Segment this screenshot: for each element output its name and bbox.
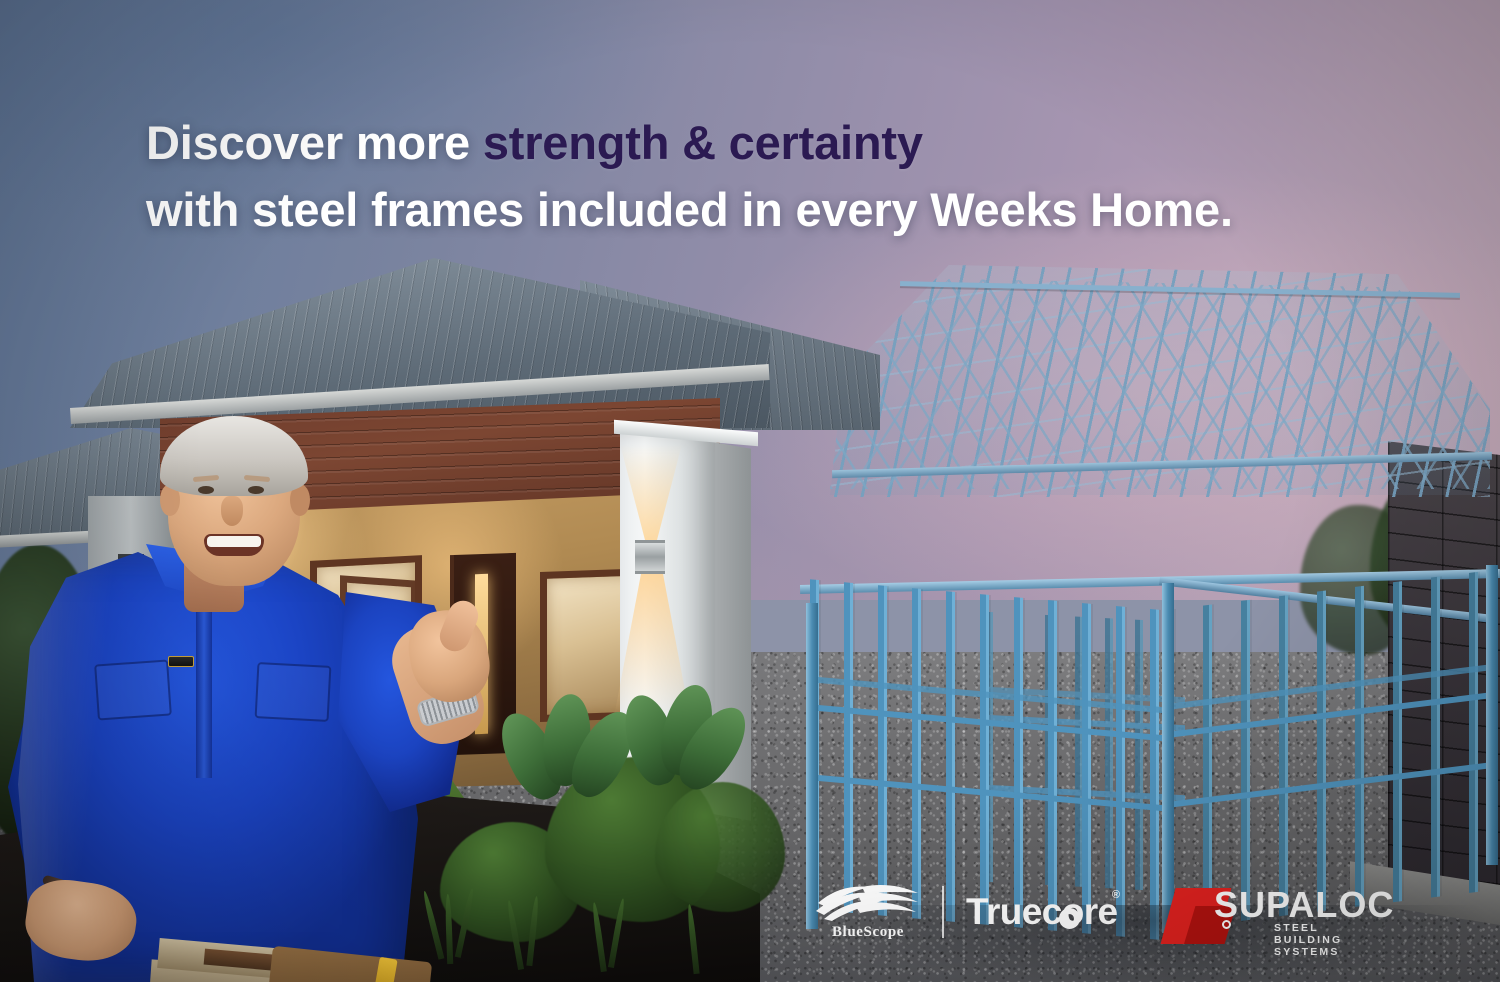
steel-corner-post-right [1486, 565, 1498, 865]
pillar-wall-light [635, 540, 665, 574]
banner-headline: Discover more strength & certainty with … [146, 110, 1346, 243]
shirt-placket [196, 608, 212, 778]
brand-logo-bar: BlueScope Truecore ® SUPALOC STEEL BUILD… [808, 876, 1390, 948]
headline-accent-phrase: strength & certainty [483, 116, 923, 169]
presenter-figure [8, 412, 478, 982]
bluescope-wordmark: BlueScope [832, 924, 904, 941]
supaloc-tagline: STEEL BUILDING SYSTEMS [1274, 922, 1390, 958]
headline-line-1: Discover more strength & certainty [146, 110, 1346, 177]
headline-line-2: with steel frames included in every Week… [146, 177, 1346, 244]
presenter-teeth [207, 536, 261, 547]
marketing-banner: Discover more strength & certainty with … [0, 0, 1500, 982]
headline-line-1-plain: Discover more [146, 116, 483, 169]
presenter-eye-right [248, 486, 264, 494]
presenter-hair [160, 416, 308, 496]
presenter-mouth [204, 534, 264, 556]
truecore-o-ring-icon [1059, 908, 1080, 929]
supaloc-logo: SUPALOC STEEL BUILDING SYSTEMS [1162, 880, 1390, 944]
shirt-pocket-left [94, 659, 172, 720]
supaloc-wordmark: SUPALOC [1214, 884, 1394, 926]
bluescope-logo: BlueScope [808, 883, 928, 941]
truecore-logo: Truecore ® [966, 891, 1116, 933]
truecore-wordmark: Truecore [966, 891, 1116, 933]
steel-frame-structure [770, 265, 1500, 810]
presenter-eye-left [198, 486, 214, 494]
bluescope-ribbon-icon [814, 883, 922, 923]
logo-divider [942, 886, 944, 938]
shirt-pocket-right [255, 662, 332, 722]
truecore-registered-icon: ® [1112, 889, 1120, 901]
presenter-nose [221, 496, 243, 526]
shirt-brand-badge [168, 656, 194, 667]
